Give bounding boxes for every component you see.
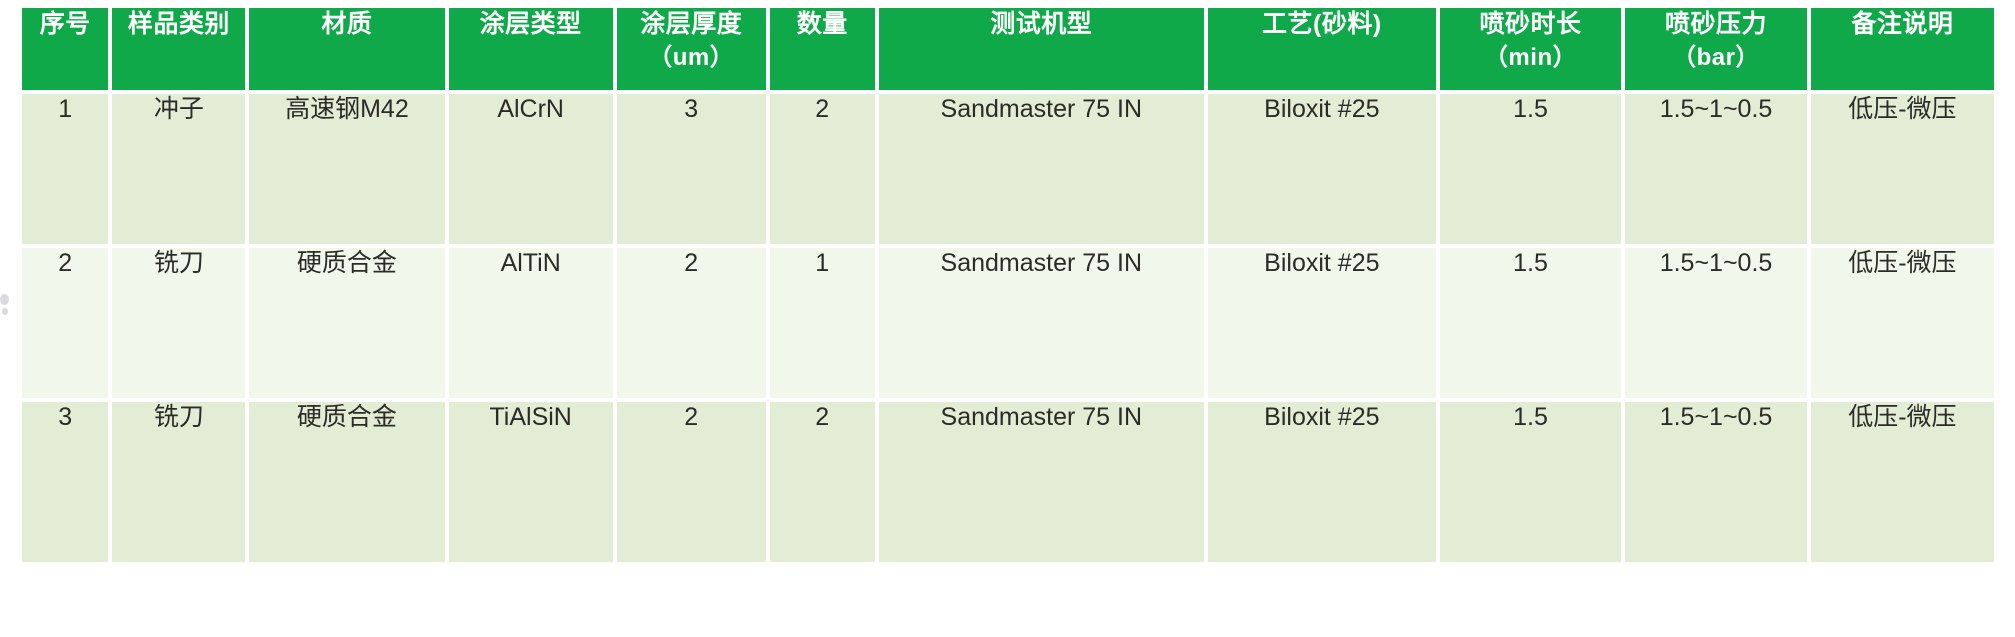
cell-process[interactable]: Biloxit #25 <box>1208 248 1440 402</box>
column-header-label: 材质 <box>321 10 372 38</box>
cell-index[interactable]: 1 <box>22 94 112 248</box>
table-body: 1 冲子 高速钢M42 AlCrN 3 2 Sandmaster 75 IN B… <box>22 94 1994 562</box>
column-header-blast-time[interactable]: 喷砂时长 （min） <box>1440 8 1625 94</box>
scan-artifact-speck <box>0 294 9 305</box>
table-row[interactable]: 1 冲子 高速钢M42 AlCrN 3 2 Sandmaster 75 IN B… <box>22 94 1994 248</box>
cell-coating[interactable]: AlTiN <box>449 248 617 402</box>
column-header-coating[interactable]: 涂层类型 <box>449 8 617 94</box>
cell-pressure[interactable]: 1.5~1~0.5 <box>1625 402 1810 562</box>
column-header-label: 样品类别 <box>128 10 230 38</box>
cell-material[interactable]: 高速钢M42 <box>249 94 448 248</box>
cell-remark[interactable]: 低压-微压 <box>1811 402 1994 562</box>
spreadsheet-canvas: 序号 样品类别 材质 涂层类型 涂层厚度 （um） 数量 <box>0 0 2015 637</box>
column-header-label: 工艺(砂料) <box>1262 10 1382 38</box>
column-header-label: 测试机型 <box>990 10 1092 38</box>
column-header-label: 喷砂压力 <box>1665 10 1767 38</box>
table-row[interactable]: 2 铣刀 硬质合金 AlTiN 2 1 Sandmaster 75 IN Bil… <box>22 248 1994 402</box>
cell-process[interactable]: Biloxit #25 <box>1208 94 1440 248</box>
cell-category[interactable]: 铣刀 <box>112 248 249 402</box>
column-header-index[interactable]: 序号 <box>22 8 112 94</box>
cell-thickness[interactable]: 3 <box>617 94 770 248</box>
cell-coating[interactable]: AlCrN <box>449 94 617 248</box>
cell-process[interactable]: Biloxit #25 <box>1208 402 1440 562</box>
column-header-remark[interactable]: 备注说明 <box>1811 8 1994 94</box>
column-header-pressure[interactable]: 喷砂压力 （bar） <box>1625 8 1810 94</box>
cell-quantity[interactable]: 2 <box>770 402 879 562</box>
scan-artifact-speck <box>2 308 8 315</box>
cell-remark[interactable]: 低压-微压 <box>1811 94 1994 248</box>
cell-pressure[interactable]: 1.5~1~0.5 <box>1625 94 1810 248</box>
cell-quantity[interactable]: 2 <box>770 94 879 248</box>
cell-index[interactable]: 3 <box>22 402 112 562</box>
column-header-label: 数量 <box>797 10 848 38</box>
cell-material[interactable]: 硬质合金 <box>249 402 448 562</box>
cell-index[interactable]: 2 <box>22 248 112 402</box>
column-header-label: 涂层厚度 <box>640 10 742 38</box>
column-header-label: 喷砂时长 <box>1480 10 1582 38</box>
column-header-category[interactable]: 样品类别 <box>112 8 249 94</box>
cell-blast-time[interactable]: 1.5 <box>1440 94 1625 248</box>
cell-blast-time[interactable]: 1.5 <box>1440 248 1625 402</box>
cell-machine[interactable]: Sandmaster 75 IN <box>879 94 1208 248</box>
column-header-process[interactable]: 工艺(砂料) <box>1208 8 1440 94</box>
cell-thickness[interactable]: 2 <box>617 248 770 402</box>
cell-remark[interactable]: 低压-微压 <box>1811 248 1994 402</box>
cell-pressure[interactable]: 1.5~1~0.5 <box>1625 248 1810 402</box>
cell-machine[interactable]: Sandmaster 75 IN <box>879 248 1208 402</box>
cell-coating[interactable]: TiAlSiN <box>449 402 617 562</box>
cell-machine[interactable]: Sandmaster 75 IN <box>879 402 1208 562</box>
cell-thickness[interactable]: 2 <box>617 402 770 562</box>
cell-material[interactable]: 硬质合金 <box>249 248 448 402</box>
table-row[interactable]: 3 铣刀 硬质合金 TiAlSiN 2 2 Sandmaster 75 IN B… <box>22 402 1994 562</box>
sandblasting-test-table: 序号 样品类别 材质 涂层类型 涂层厚度 （um） 数量 <box>22 8 1994 562</box>
column-header-machine[interactable]: 测试机型 <box>879 8 1208 94</box>
column-header-label: 序号 <box>40 10 91 38</box>
column-header-label: 涂层类型 <box>480 10 582 38</box>
cell-category[interactable]: 铣刀 <box>112 402 249 562</box>
column-header-quantity[interactable]: 数量 <box>770 8 879 94</box>
table-header: 序号 样品类别 材质 涂层类型 涂层厚度 （um） 数量 <box>22 8 1994 94</box>
column-header-unit: （min） <box>1440 41 1621 74</box>
column-header-material[interactable]: 材质 <box>249 8 448 94</box>
cell-quantity[interactable]: 1 <box>770 248 879 402</box>
table-header-row: 序号 样品类别 材质 涂层类型 涂层厚度 （um） 数量 <box>22 8 1994 94</box>
cell-category[interactable]: 冲子 <box>112 94 249 248</box>
column-header-thickness[interactable]: 涂层厚度 （um） <box>617 8 770 94</box>
column-header-unit: （um） <box>617 41 766 74</box>
column-header-label: 备注说明 <box>1851 10 1953 38</box>
column-header-unit: （bar） <box>1625 41 1806 74</box>
cell-blast-time[interactable]: 1.5 <box>1440 402 1625 562</box>
